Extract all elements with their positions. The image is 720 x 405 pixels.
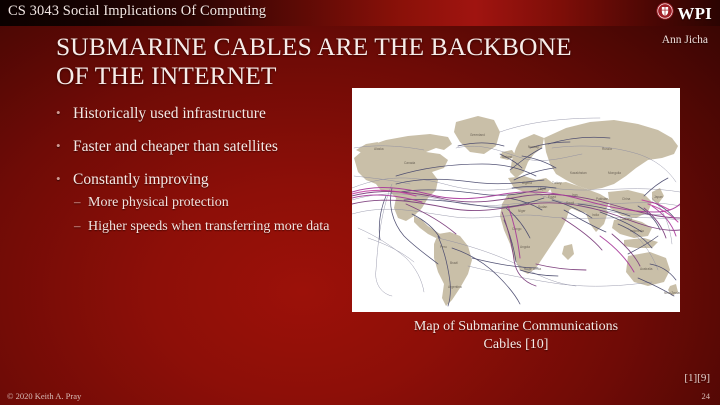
bullet-text: Historically used infrastructure	[73, 104, 346, 124]
svg-text:Norway: Norway	[528, 145, 539, 149]
bullet-marker-icon: •	[56, 104, 73, 124]
bullet-marker-icon: •	[56, 170, 73, 190]
sub-bullet-text: Higher speeds when transferring more dat…	[88, 218, 346, 236]
slide-number: 24	[702, 391, 711, 401]
sub-bullet-list: – More physical protection – Higher spee…	[56, 194, 346, 236]
svg-text:Congo: Congo	[512, 227, 522, 231]
wpi-seal-icon	[656, 2, 674, 25]
figure-caption-line1: Map of Submarine Communications	[414, 319, 618, 334]
svg-text:Egypt: Egypt	[548, 195, 556, 199]
submarine-cable-map-image: Greenland Canada Iceland Russia Kazakhst…	[352, 88, 680, 312]
bullet-item: • Constantly improving	[56, 170, 346, 190]
svg-text:Libya: Libya	[538, 187, 546, 191]
svg-text:India: India	[592, 213, 599, 217]
figure-caption: Map of Submarine Communications Cables […	[352, 318, 680, 353]
author-name: Ann Jicha	[662, 34, 708, 46]
svg-text:China: China	[622, 197, 631, 201]
svg-text:Alaska: Alaska	[374, 147, 384, 151]
sub-bullet-item: – More physical protection	[56, 194, 346, 212]
svg-text:Iran: Iran	[572, 193, 578, 197]
slide-title-line1: SUBMARINE CABLES ARE THE BACKBONE	[56, 32, 572, 61]
svg-text:Iceland: Iceland	[502, 155, 513, 159]
bullet-marker-icon: •	[56, 137, 73, 157]
sub-bullet-text: More physical protection	[88, 194, 346, 212]
svg-text:Angola: Angola	[520, 245, 530, 249]
svg-text:Mongolia: Mongolia	[608, 171, 621, 175]
figure-caption-line2: Cables [10]	[484, 337, 549, 352]
slide-header-bar: CS 3043 Social Implications Of Computing…	[0, 0, 720, 26]
svg-text:Canada: Canada	[404, 161, 415, 165]
reference-markers: [1][9]	[684, 372, 710, 384]
sub-bullet-item: – Higher speeds when transferring more d…	[56, 218, 346, 236]
svg-text:Saudi: Saudi	[566, 201, 574, 205]
svg-text:Turkey: Turkey	[552, 181, 562, 185]
bullet-text: Constantly improving	[73, 170, 346, 190]
bullet-item: • Faster and cheaper than satellites	[56, 137, 346, 157]
svg-text:Pakistan: Pakistan	[596, 197, 608, 201]
svg-text:New Zealand: New Zealand	[664, 291, 680, 295]
svg-text:Algeria: Algeria	[522, 181, 532, 185]
sub-bullet-marker-icon: –	[74, 194, 88, 212]
svg-text:Australia: Australia	[640, 267, 653, 271]
svg-text:Thailand: Thailand	[620, 217, 632, 221]
svg-text:Niger: Niger	[518, 209, 527, 213]
course-title: CS 3043 Social Implications Of Computing	[8, 3, 266, 20]
copyright-notice: © 2020 Keith A. Pray	[7, 391, 81, 401]
svg-text:Greenland: Greenland	[470, 133, 485, 137]
svg-text:Argentina: Argentina	[448, 285, 462, 289]
svg-text:South Africa: South Africa	[524, 267, 541, 271]
presentation-slide: CS 3043 Social Implications Of Computing…	[0, 0, 720, 405]
wpi-wordmark: WPI	[677, 5, 712, 22]
wpi-logo: WPI	[656, 2, 712, 24]
slide-title: SUBMARINE CABLES ARE THE BACKBONE OF THE…	[56, 32, 586, 90]
svg-text:Indonesia: Indonesia	[630, 229, 644, 233]
sub-bullet-marker-icon: –	[74, 218, 88, 236]
svg-text:Brazil: Brazil	[450, 261, 458, 265]
svg-text:Kazakhstan: Kazakhstan	[570, 171, 587, 175]
svg-text:Peru: Peru	[440, 245, 447, 249]
svg-text:Japan: Japan	[654, 195, 663, 199]
svg-text:Russia: Russia	[602, 147, 612, 151]
bullet-list: • Historically used infrastructure • Fas…	[56, 104, 346, 243]
world-map-svg: Greenland Canada Iceland Russia Kazakhst…	[352, 88, 680, 312]
slide-title-line2: OF THE INTERNET	[56, 61, 586, 90]
bullet-item: • Historically used infrastructure	[56, 104, 346, 124]
svg-text:Sudan: Sudan	[538, 205, 547, 209]
bullet-item-group: • Constantly improving – More physical p…	[56, 170, 346, 236]
bullet-text: Faster and cheaper than satellites	[73, 137, 346, 157]
